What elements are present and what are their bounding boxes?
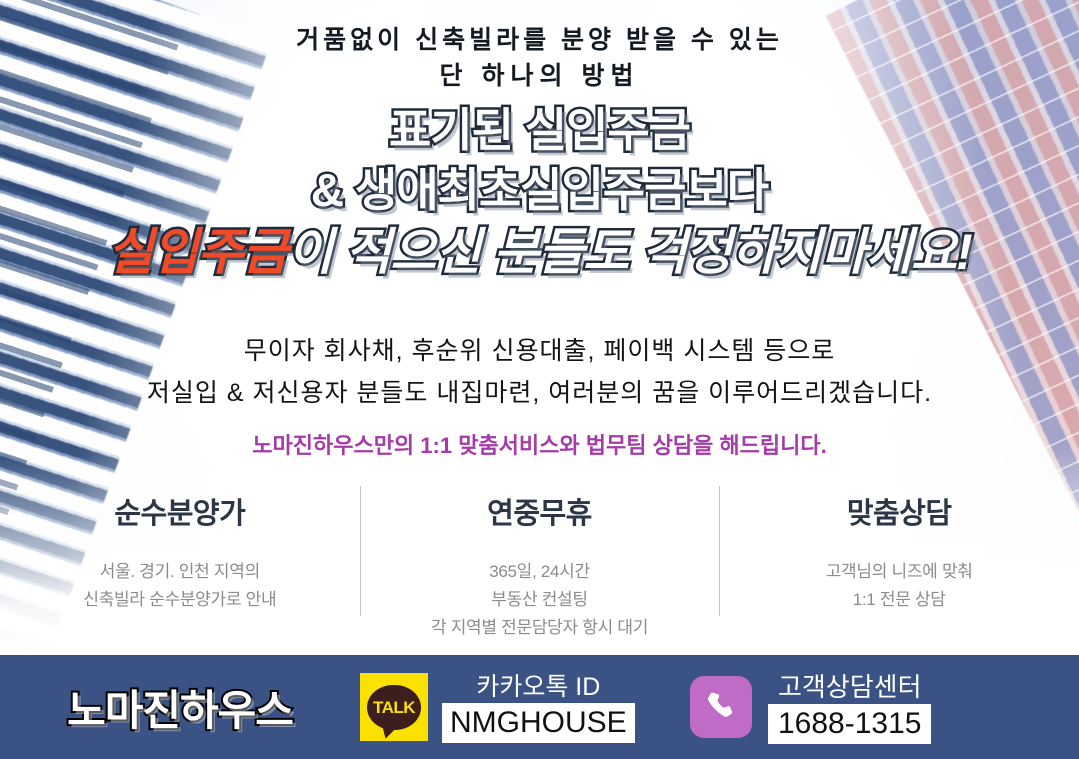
brand-name: 노마진하우스	[0, 677, 360, 738]
headline: 거품없이 신축빌라를 분양 받을 수 있는 단 하나의 방법	[0, 22, 1079, 94]
feature-column-pure-price: 순수분양가 서울. 경기. 인천 지역의 신축빌라 순수분양가로 안내	[0, 486, 360, 636]
advertisement-banner: 거품없이 신축빌라를 분양 받을 수 있는 단 하나의 방법 표기된 실입주금 …	[0, 0, 1079, 759]
kakao-id-label: 카카오톡 ID	[442, 671, 635, 703]
feature-column-custom-consulting: 맞춤상담 고객님의 니즈에 맞춰 1:1 전문 상담	[719, 486, 1079, 636]
hero-line-3-rest: 이 적으신 분들도 걱정하지마세요!	[287, 224, 971, 280]
feature-description: 서울. 경기. 인천 지역의 신축빌라 순수분양가로 안내	[0, 558, 360, 614]
kakao-id-value[interactable]: NMGHOUSE	[442, 703, 635, 743]
feature-title: 연중무휴	[360, 490, 720, 532]
footer-contact-bar: 노마진하우스 TALK 카카오톡 ID NMGHOUSE	[0, 655, 1079, 759]
call-center-number[interactable]: 1688-1315	[768, 704, 931, 744]
kakao-contact-group[interactable]: TALK 카카오톡 ID NMGHOUSE	[360, 671, 690, 743]
paragraph-line-1: 무이자 회사채, 후순위 신용대출, 페이백 시스템 등으로	[0, 330, 1079, 372]
feature-columns: 순수분양가 서울. 경기. 인천 지역의 신축빌라 순수분양가로 안내 연중무휴…	[0, 486, 1079, 636]
hero-statement: 표기된 실입주금 & 생애최초실입주금보다 실입주금이 적으신 분들도 걱정하지…	[0, 100, 1079, 284]
phone-icon[interactable]	[690, 676, 752, 738]
feature-description: 고객님의 니즈에 맞춰 1:1 전문 상담	[719, 558, 1079, 614]
feature-desc-line-3: 각 지역별 전문담당자 항시 대기	[360, 614, 720, 642]
feature-desc-line-1: 고객님의 니즈에 맞춰	[719, 558, 1079, 586]
call-center-label: 고객상담센터	[768, 671, 931, 704]
kakaotalk-icon-label: TALK	[373, 699, 415, 716]
hero-line-3: 실입주금이 적으신 분들도 걱정하지마세요!	[0, 220, 1079, 284]
feature-desc-line-2: 신축빌라 순수분양가로 안내	[0, 586, 360, 614]
speech-bubble-icon: TALK	[367, 685, 421, 730]
feature-title: 순수분양가	[0, 490, 360, 532]
feature-desc-line-1: 서울. 경기. 인천 지역의	[0, 558, 360, 586]
hero-line-1: 표기된 실입주금	[0, 100, 1079, 160]
paragraph-line-2: 저실입 & 저신용자 분들도 내집마련, 여러분의 꿈을 이루어드리겠습니다.	[0, 372, 1079, 414]
headline-line-2: 단 하나의 방법	[0, 58, 1079, 94]
feature-column-open-all-year: 연중무휴 365일, 24시간 부동산 컨설팅 각 지역별 전문담당자 항시 대…	[360, 486, 720, 636]
banner-content: 거품없이 신축빌라를 분양 받을 수 있는 단 하나의 방법 표기된 실입주금 …	[0, 0, 1079, 759]
feature-desc-line-2: 부동산 컨설팅	[360, 586, 720, 614]
feature-title: 맞춤상담	[719, 490, 1079, 532]
supporting-paragraph: 무이자 회사채, 후순위 신용대출, 페이백 시스템 등으로 저실입 & 저신용…	[0, 330, 1079, 414]
phone-contact-group[interactable]: 고객상담센터 1688-1315	[690, 671, 1050, 744]
phone-text-group: 고객상담센터 1688-1315	[768, 671, 931, 744]
feature-desc-line-1: 365일, 24시간	[360, 558, 720, 586]
feature-desc-line-2: 1:1 전문 상담	[719, 586, 1079, 614]
hero-line-2: & 생애최초실입주금보다	[0, 160, 1079, 220]
hero-highlight-text: 실입주금	[107, 224, 287, 280]
service-promise-line: 노마진하우스만의 1:1 맞춤서비스와 법무팀 상담을 해드립니다.	[0, 428, 1079, 460]
headline-line-1: 거품없이 신축빌라를 분양 받을 수 있는	[0, 22, 1079, 58]
feature-description: 365일, 24시간 부동산 컨설팅 각 지역별 전문담당자 항시 대기	[360, 558, 720, 642]
kakaotalk-icon[interactable]: TALK	[360, 673, 428, 741]
kakao-text-group: 카카오톡 ID NMGHOUSE	[442, 671, 635, 743]
